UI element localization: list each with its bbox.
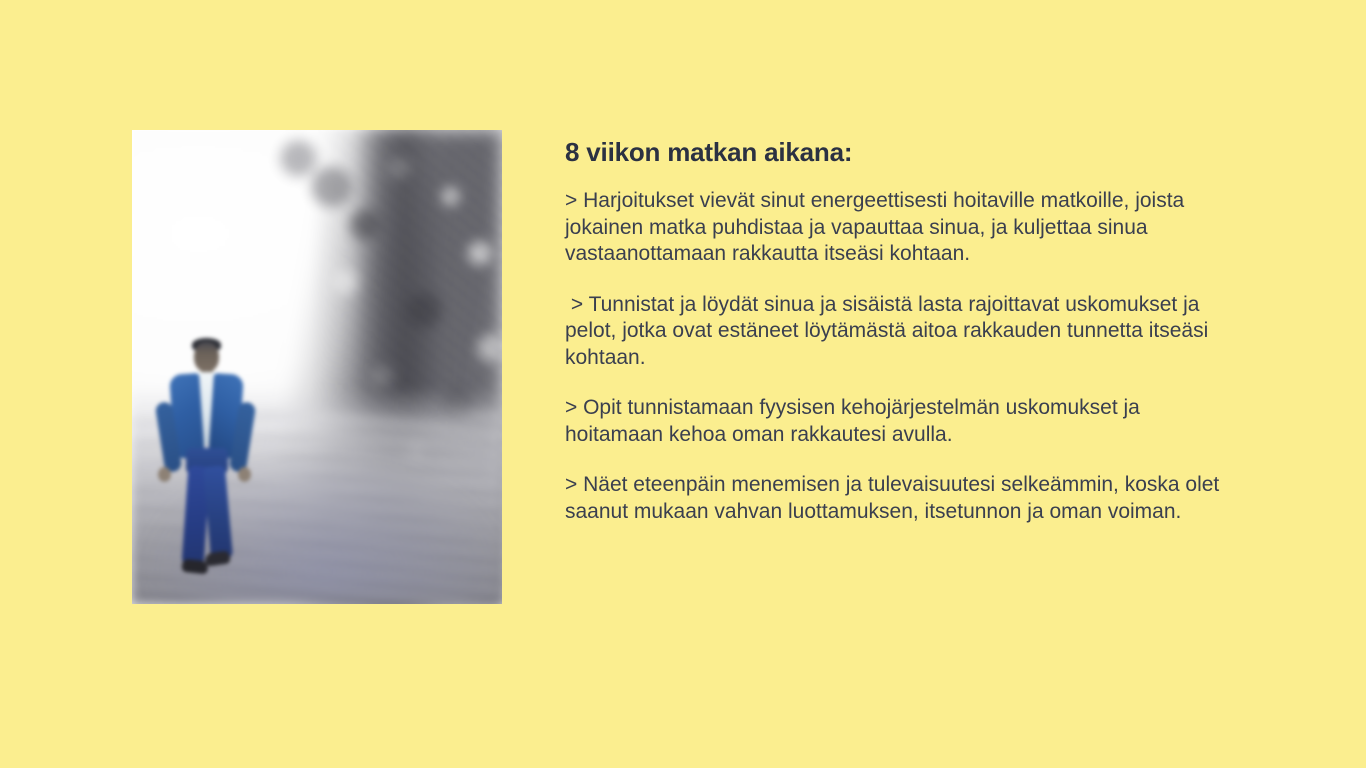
- text-column: 8 viikon matkan aikana: > Harjoitukset v…: [565, 136, 1230, 525]
- benefit-paragraph-2: > Tunnistat ja löydät sinua ja sisäistä …: [565, 292, 1230, 372]
- benefit-paragraph-4: > Näet eteenpäin menemisen ja tulevaisuu…: [565, 472, 1230, 525]
- walking-person-figure: [158, 336, 254, 586]
- walking-person-forest-path-photo: [132, 130, 502, 604]
- benefit-paragraph-1: > Harjoitukset vievät sinut energeettise…: [565, 188, 1230, 268]
- benefit-paragraph-3: > Opit tunnistamaan fyysisen kehojärjest…: [565, 395, 1230, 448]
- page-title: 8 viikon matkan aikana:: [565, 136, 1230, 168]
- slide-canvas: 8 viikon matkan aikana: > Harjoitukset v…: [0, 0, 1366, 768]
- person-leg-right: [203, 465, 233, 561]
- person-shoe-right: [204, 550, 231, 566]
- person-hand-left: [158, 467, 171, 482]
- person-hand-right: [238, 467, 251, 482]
